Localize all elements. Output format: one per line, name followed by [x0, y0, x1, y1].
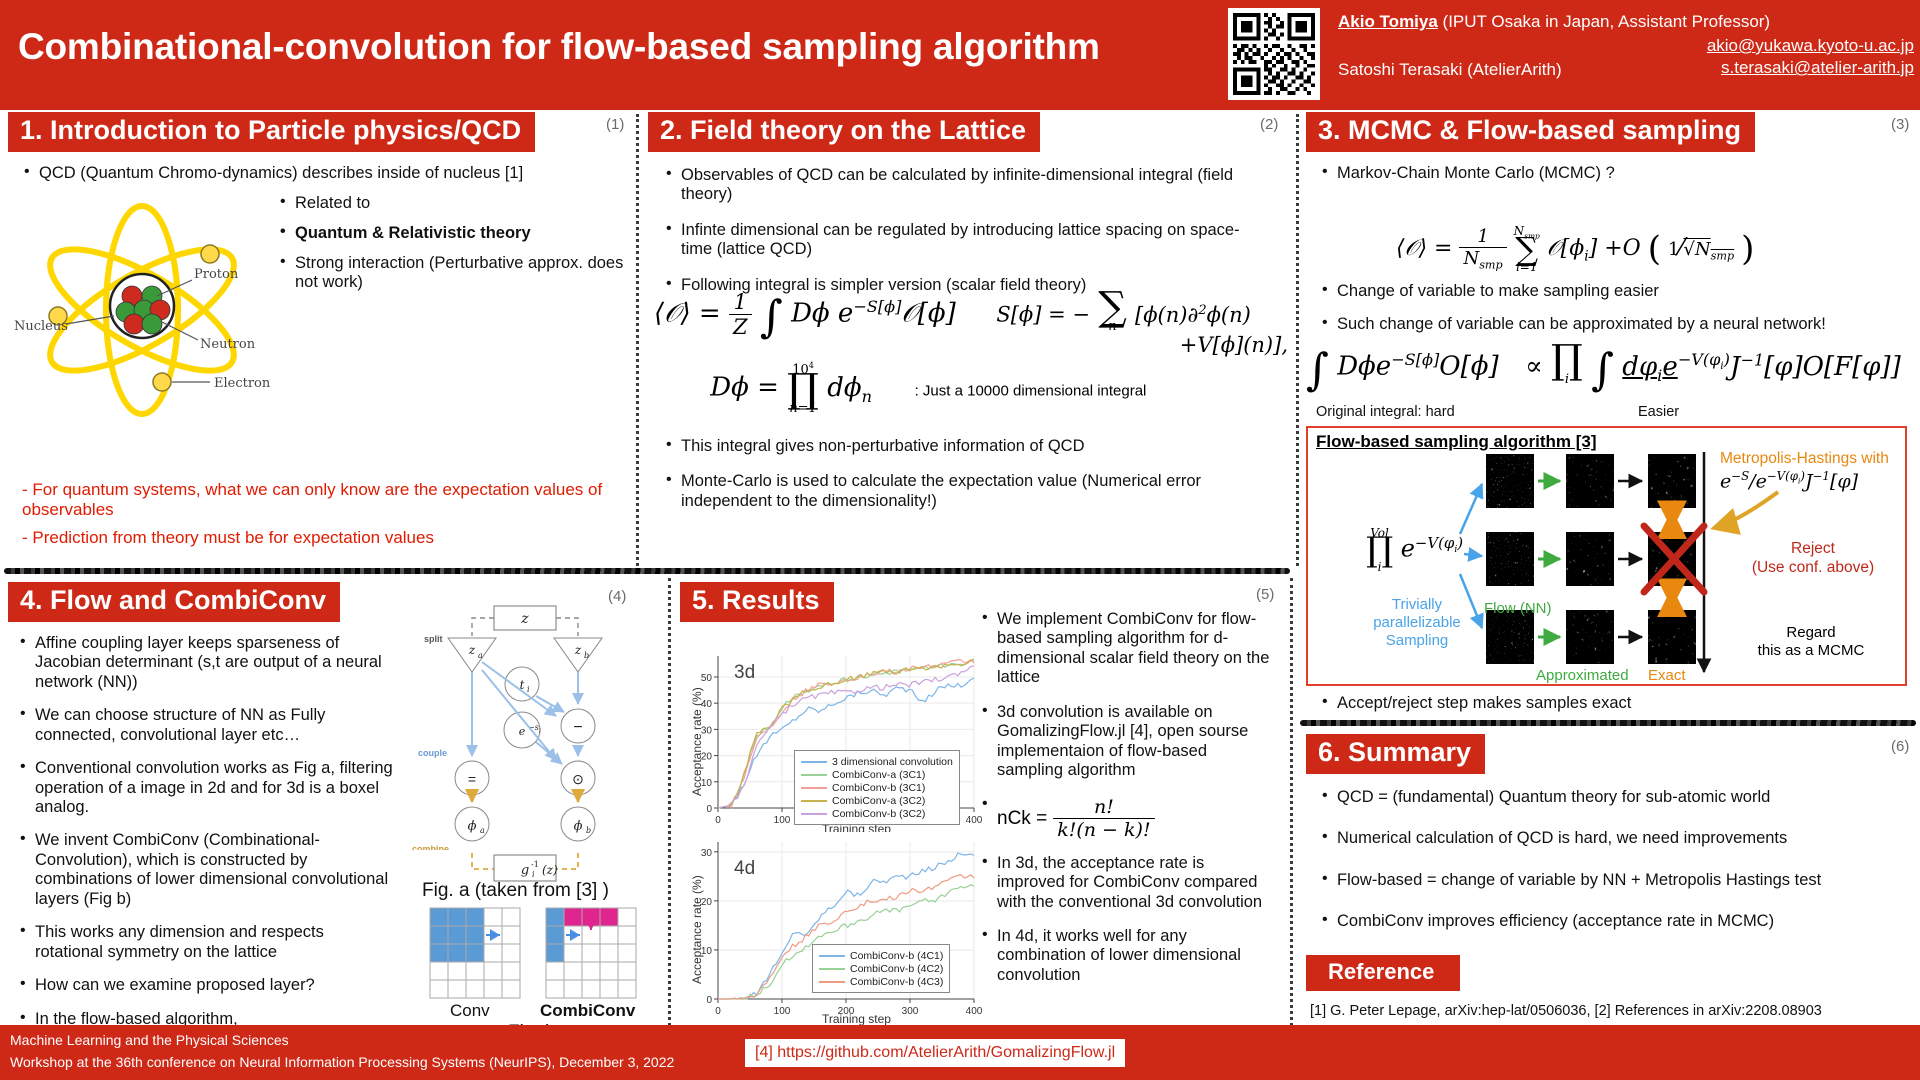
flow-nn-label: Flow (NN): [1484, 600, 1552, 617]
atom-label-proton: Proton: [194, 267, 239, 282]
section-3-caption-right: Easier: [1638, 404, 1679, 420]
svg-text:i: i: [527, 685, 530, 694]
chart-4d-xlabel: Training step: [822, 1012, 891, 1026]
svg-text:100: 100: [774, 1006, 791, 1017]
list-item: Conventional convolution works as Fig a,…: [18, 759, 393, 817]
list-item: How can we examine proposed layer?: [18, 976, 393, 995]
legend-label: CombiConv-b (3C1): [832, 782, 925, 794]
svg-text:30: 30: [701, 848, 713, 859]
section-1-title: 1. Introduction to Particle physics/QCD: [8, 112, 535, 152]
list-item: In 4d, it works well for any combination…: [980, 927, 1270, 985]
legend-swatch: [819, 968, 845, 970]
svg-text:i: i: [539, 728, 541, 735]
atom-diagram: Proton Neutron Nucleus Electron: [14, 198, 284, 433]
poster-header: Combinational-convolution for flow-based…: [0, 0, 1920, 110]
list-item: Observables of QCD can be calculated by …: [664, 166, 1264, 205]
legend-swatch: [819, 981, 845, 983]
svg-text:0: 0: [715, 1006, 721, 1017]
section-6-bullets: QCD = (fundamental) Quantum theory for s…: [1320, 788, 1910, 932]
poster-root: Combinational-convolution for flow-based…: [0, 0, 1920, 1080]
section-1-sub-bullets: Related to Quantum & Relativistic theory…: [278, 194, 628, 302]
list-item: Accept/reject step makes samples exact: [1320, 694, 1910, 713]
divider-col-3: [668, 578, 671, 1026]
legend-label: CombiConv-a (3C2): [832, 795, 925, 807]
legend-swatch: [801, 787, 827, 789]
figure-a-diagram: z z a z b split t i e −s i − = ⊙: [410, 600, 640, 850]
legend-swatch: [801, 761, 827, 763]
legend-label: CombiConv-b (4C3): [850, 976, 943, 988]
legend-swatch: [801, 774, 827, 776]
list-item: We can choose structure of NN as Fully c…: [18, 706, 393, 745]
legend-item: 3 dimensional convolution: [801, 755, 953, 768]
svg-text:e: e: [519, 725, 526, 738]
author-1-affiliation: (IPUT Osaka in Japan, Assistant Professo…: [1438, 12, 1770, 31]
divider-col-4: [1290, 578, 1293, 1026]
footer-url-link[interactable]: [4] https://github.com/AtelierArith/Goma…: [745, 1039, 1125, 1067]
svg-text:400: 400: [966, 1006, 982, 1017]
figure-a: z z a z b split t i e −s i − = ⊙: [410, 600, 640, 890]
section-3-number: (3): [1891, 116, 1909, 133]
figure-a-caption: Fig. a (taken from [3] ): [422, 880, 609, 902]
svg-text:-1: -1: [531, 860, 539, 869]
legend-item: CombiConv-b (3C1): [801, 781, 953, 794]
chart-4d-legend: CombiConv-b (4C1)CombiConv-b (4C2)CombiC…: [812, 944, 950, 993]
section-6-number: (6): [1891, 738, 1909, 755]
list-item: Change of variable to make sampling easi…: [1320, 282, 1910, 301]
section-6-title: 6. Summary: [1306, 734, 1485, 774]
svg-text:ϕ: ϕ: [468, 819, 477, 834]
list-item: This integral gives non-perturbative inf…: [664, 437, 1264, 456]
ncr-label: nCk =: [997, 808, 1047, 829]
list-item: Flow-based = change of variable by NN + …: [1320, 871, 1910, 890]
legend-item: CombiConv-a (3C2): [801, 794, 953, 807]
red-note: - Prediction from theory must be for exp…: [22, 528, 622, 548]
list-item: We invent CombiConv (Combinational-Convo…: [18, 831, 393, 909]
chart-4d-annotation: 4d: [734, 858, 755, 880]
approximated-label: Approximated: [1536, 667, 1629, 684]
metropolis-hastings-label: Metropolis-Hastings with e−S/e−V(φi)J−1[…: [1720, 450, 1910, 493]
list-item: Quantum & Relativistic theory: [278, 224, 628, 243]
section-3-accept-bullet: Accept/reject step makes samples exact: [1320, 694, 1910, 722]
svg-text:50: 50: [701, 673, 713, 684]
atom-label-electron: Electron: [214, 376, 271, 391]
list-item: Infinte dimensional can be regulated by …: [664, 221, 1264, 260]
legend-swatch: [801, 800, 827, 802]
atom-label-nucleus: Nucleus: [14, 319, 68, 334]
legend-label: CombiConv-b (4C1): [850, 950, 943, 962]
figure-b: [428, 906, 648, 1013]
legend-label: 3 dimensional convolution: [832, 756, 953, 768]
section-5-number: (5): [1256, 586, 1274, 603]
reject-label: Reject (Use conf. above): [1718, 540, 1908, 577]
section-2-bullets-2: This integral gives non-perturbative inf…: [664, 437, 1264, 520]
poster-footer: Machine Learning and the Physical Scienc…: [0, 1025, 1920, 1080]
legend-label: CombiConv-b (3C2): [832, 808, 925, 820]
flow-source-formula: Vol ∏ i e−V(φi): [1366, 526, 1463, 574]
legend-swatch: [819, 955, 845, 957]
svg-text:b: b: [584, 651, 589, 660]
divider-row-1: [4, 568, 1290, 574]
footer-line-2: Workshop at the 36th conference on Neura…: [10, 1054, 674, 1070]
email-link-2[interactable]: s.terasaki@atelier-arith.jp: [1721, 58, 1914, 78]
chart-3d-legend: 3 dimensional convolutionCombiConv-a (3C…: [794, 750, 960, 825]
list-item: We implement CombiConv for flow-based sa…: [980, 610, 1270, 688]
ncr-denominator: k!(n − k)!: [1053, 819, 1154, 841]
author-1: Akio Tomiya (IPUT Osaka in Japan, Assist…: [1338, 12, 1918, 32]
figure-b-conv-label: Conv: [450, 1001, 490, 1021]
svg-text:−: −: [573, 719, 582, 736]
config-thumbnails: [1486, 454, 1696, 664]
section-3-formula-flow: ∫ Dϕe−S[ϕ]O[ϕ] ∝ ∏ i ∫ dφie−V(φi)J−1[φ]O…: [1306, 348, 1901, 387]
section-2-formula: ⟨𝒪⟩ = 1Z ∫ Dϕ e−S[ϕ]𝒪[ϕ] S[ϕ] = − ∑ n [ϕ…: [654, 290, 1294, 416]
svg-text:z: z: [468, 643, 476, 657]
page-title: Combinational-convolution for flow-based…: [18, 26, 1100, 68]
svg-text:a: a: [478, 651, 483, 660]
chart-3d-annotation: 3d: [734, 662, 755, 684]
list-item: Related to: [278, 194, 628, 213]
legend-label: CombiConv-b (4C2): [850, 963, 943, 975]
list-item: This works any dimension and respects ro…: [18, 923, 393, 962]
author-2: Satoshi Terasaki (AtelierArith): [1338, 60, 1562, 80]
qr-code-icon: [1228, 8, 1320, 100]
svg-text:i: i: [532, 870, 535, 879]
figure-b-combiconv-label: CombiConv: [540, 1001, 635, 1021]
svg-text:=: =: [468, 771, 476, 787]
section-1-number: (1): [606, 116, 624, 133]
red-note: - For quantum systems, what we can only …: [22, 480, 622, 521]
ncr-numerator: n!: [1053, 796, 1154, 819]
section-4-bullets: Affine coupling layer keeps sparseness o…: [18, 634, 393, 1030]
svg-text:0: 0: [715, 815, 721, 826]
reference-item: [1] G. Peter Lepage, arXiv:hep-lat/05060…: [1310, 1003, 1916, 1019]
list-item: CombiConv improves efficiency (acceptanc…: [1320, 912, 1910, 931]
email-link-1[interactable]: akio@yukawa.kyoto-u.ac.jp: [1707, 36, 1914, 56]
section-3: 3. MCMC & Flow-based sampling (3) Markov…: [1306, 112, 1916, 192]
chart-3d: 010203040500100200300400 3d Acceptance r…: [682, 646, 982, 836]
section-1: 1. Introduction to Particle physics/QCD …: [8, 112, 633, 192]
legend-item: CombiConv-a (3C1): [801, 768, 953, 781]
svg-text:combine: combine: [412, 844, 449, 850]
svg-text:300: 300: [902, 1006, 919, 1017]
legend-label: CombiConv-a (3C1): [832, 769, 925, 781]
flow-diagram-box: Flow-based sampling algorithm [3]: [1306, 426, 1907, 686]
svg-text:z: z: [574, 643, 582, 657]
svg-text:a: a: [480, 826, 485, 835]
chart-4d: 01020300100200300400 4d Acceptance rate …: [682, 832, 982, 1027]
section-3-title: 3. MCMC & Flow-based sampling: [1306, 112, 1755, 152]
section-5-title: 5. Results: [680, 582, 834, 622]
svg-text:g: g: [521, 863, 529, 878]
list-item: QCD (Quantum Chromo-dynamics) describes …: [22, 164, 633, 183]
svg-text:0: 0: [706, 995, 712, 1006]
list-item: Monte-Carlo is used to calculate the exp…: [664, 472, 1264, 511]
svg-text:(z): (z): [542, 863, 558, 877]
section-2: 2. Field theory on the Lattice (2) Obser…: [648, 112, 1288, 304]
list-item: Such change of variable can be approxima…: [1320, 315, 1910, 334]
list-item: QCD = (fundamental) Quantum theory for s…: [1320, 788, 1910, 807]
section-3-bullets: Markov-Chain Monte Carlo (MCMC) ?: [1320, 164, 1910, 183]
reference-title: Reference: [1306, 955, 1460, 991]
atom-label-neutron: Neutron: [200, 337, 256, 352]
footer-line-1: Machine Learning and the Physical Scienc…: [10, 1032, 289, 1048]
regard-mcmc-label: Regard this as a MCMC: [1716, 624, 1906, 660]
sampling-label: Trivially parallelizable Sampling: [1362, 596, 1472, 650]
svg-text:⊙: ⊙: [572, 771, 584, 787]
section-5: 5. Results (5) We implement CombiConv fo…: [680, 582, 1280, 622]
section-3-formula-mcmc: ⟨𝒪⟩ = 1Nsmp Nsmp ∑ i=1 𝒪[ϕi] +O ( 1⁄√Nsm…: [1396, 224, 1754, 274]
section-2-title: 2. Field theory on the Lattice: [648, 112, 1040, 152]
list-item: Numerical calculation of QCD is hard, we…: [1320, 829, 1910, 848]
chart-3d-ylabel: Acceptance rate (%): [690, 687, 704, 796]
list-item: nCk = n! k!(n − k)!: [980, 796, 1270, 842]
divider-col-1: [636, 114, 639, 566]
list-item: Affine coupling layer keeps sparseness o…: [18, 634, 393, 692]
author-1-name: Akio Tomiya: [1338, 12, 1438, 31]
legend-item: CombiConv-b (4C2): [819, 962, 943, 975]
exact-label: Exact: [1648, 667, 1686, 684]
svg-text:split: split: [424, 634, 443, 644]
section-3-bullets-2: Change of variable to make sampling easi…: [1320, 282, 1910, 344]
svg-text:couple: couple: [418, 748, 447, 758]
list-item: In 3d, the acceptance rate is improved f…: [980, 854, 1270, 912]
svg-text:400: 400: [966, 815, 982, 826]
list-item: Strong interaction (Perturbative approx.…: [278, 254, 628, 293]
divider-col-2: [1296, 114, 1299, 566]
section-1-red-notes: - For quantum systems, what we can only …: [22, 480, 622, 555]
section-3-caption-left: Original integral: hard: [1316, 404, 1455, 420]
list-item: Markov-Chain Monte Carlo (MCMC) ?: [1320, 164, 1910, 183]
svg-text:b: b: [586, 826, 591, 835]
chart-4d-ylabel: Acceptance rate (%): [690, 875, 704, 984]
svg-text:ϕ: ϕ: [574, 819, 583, 834]
section-2-number: (2): [1260, 116, 1278, 133]
legend-item: CombiConv-b (4C3): [819, 975, 943, 988]
svg-text:z: z: [520, 611, 529, 627]
formula-note: : Just a 10000 dimensional integral: [915, 383, 1147, 400]
author-block: Akio Tomiya (IPUT Osaka in Japan, Assist…: [1338, 12, 1918, 32]
section-5-bullets: We implement CombiConv for flow-based sa…: [980, 610, 1270, 994]
svg-text:0: 0: [706, 804, 712, 815]
legend-item: CombiConv-b (3C2): [801, 807, 953, 820]
section-2-bullets: Observables of QCD can be calculated by …: [664, 166, 1264, 295]
section-4-title: 4. Flow and CombiConv: [8, 582, 340, 622]
section-6: 6. Summary (6) QCD = (fundamental) Quant…: [1306, 734, 1916, 1063]
legend-item: CombiConv-b (4C1): [819, 949, 943, 962]
legend-swatch: [801, 813, 827, 815]
svg-text:100: 100: [774, 815, 791, 826]
section-1-bullets: QCD (Quantum Chromo-dynamics) describes …: [22, 164, 633, 183]
list-item: 3d convolution is available on Gomalizin…: [980, 703, 1270, 781]
section-4: 4. Flow and CombiConv Affine coupling la…: [8, 582, 408, 1038]
